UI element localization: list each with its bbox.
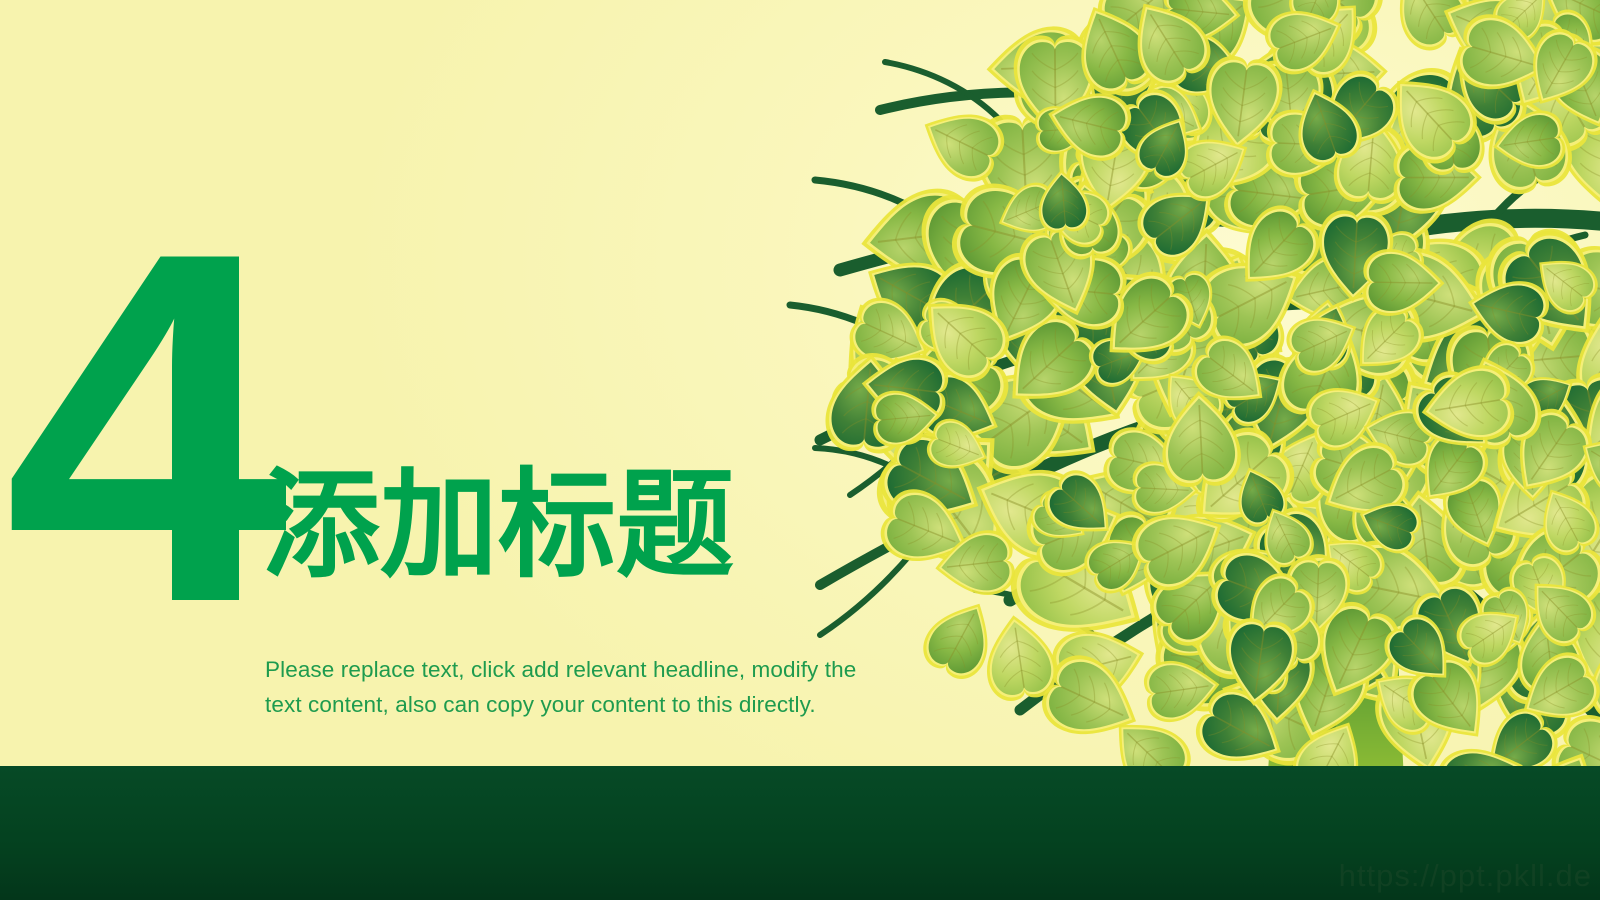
section-number: 4 bbox=[4, 178, 278, 677]
slide-canvas: 4 添加标题 Please replace text, click add re… bbox=[0, 0, 1600, 900]
page-title: 添加标题 bbox=[262, 466, 734, 584]
watermark-url: https://ppt.pkll.de bbox=[1339, 858, 1592, 894]
body-paragraph: Please replace text, click add relevant … bbox=[265, 652, 887, 722]
